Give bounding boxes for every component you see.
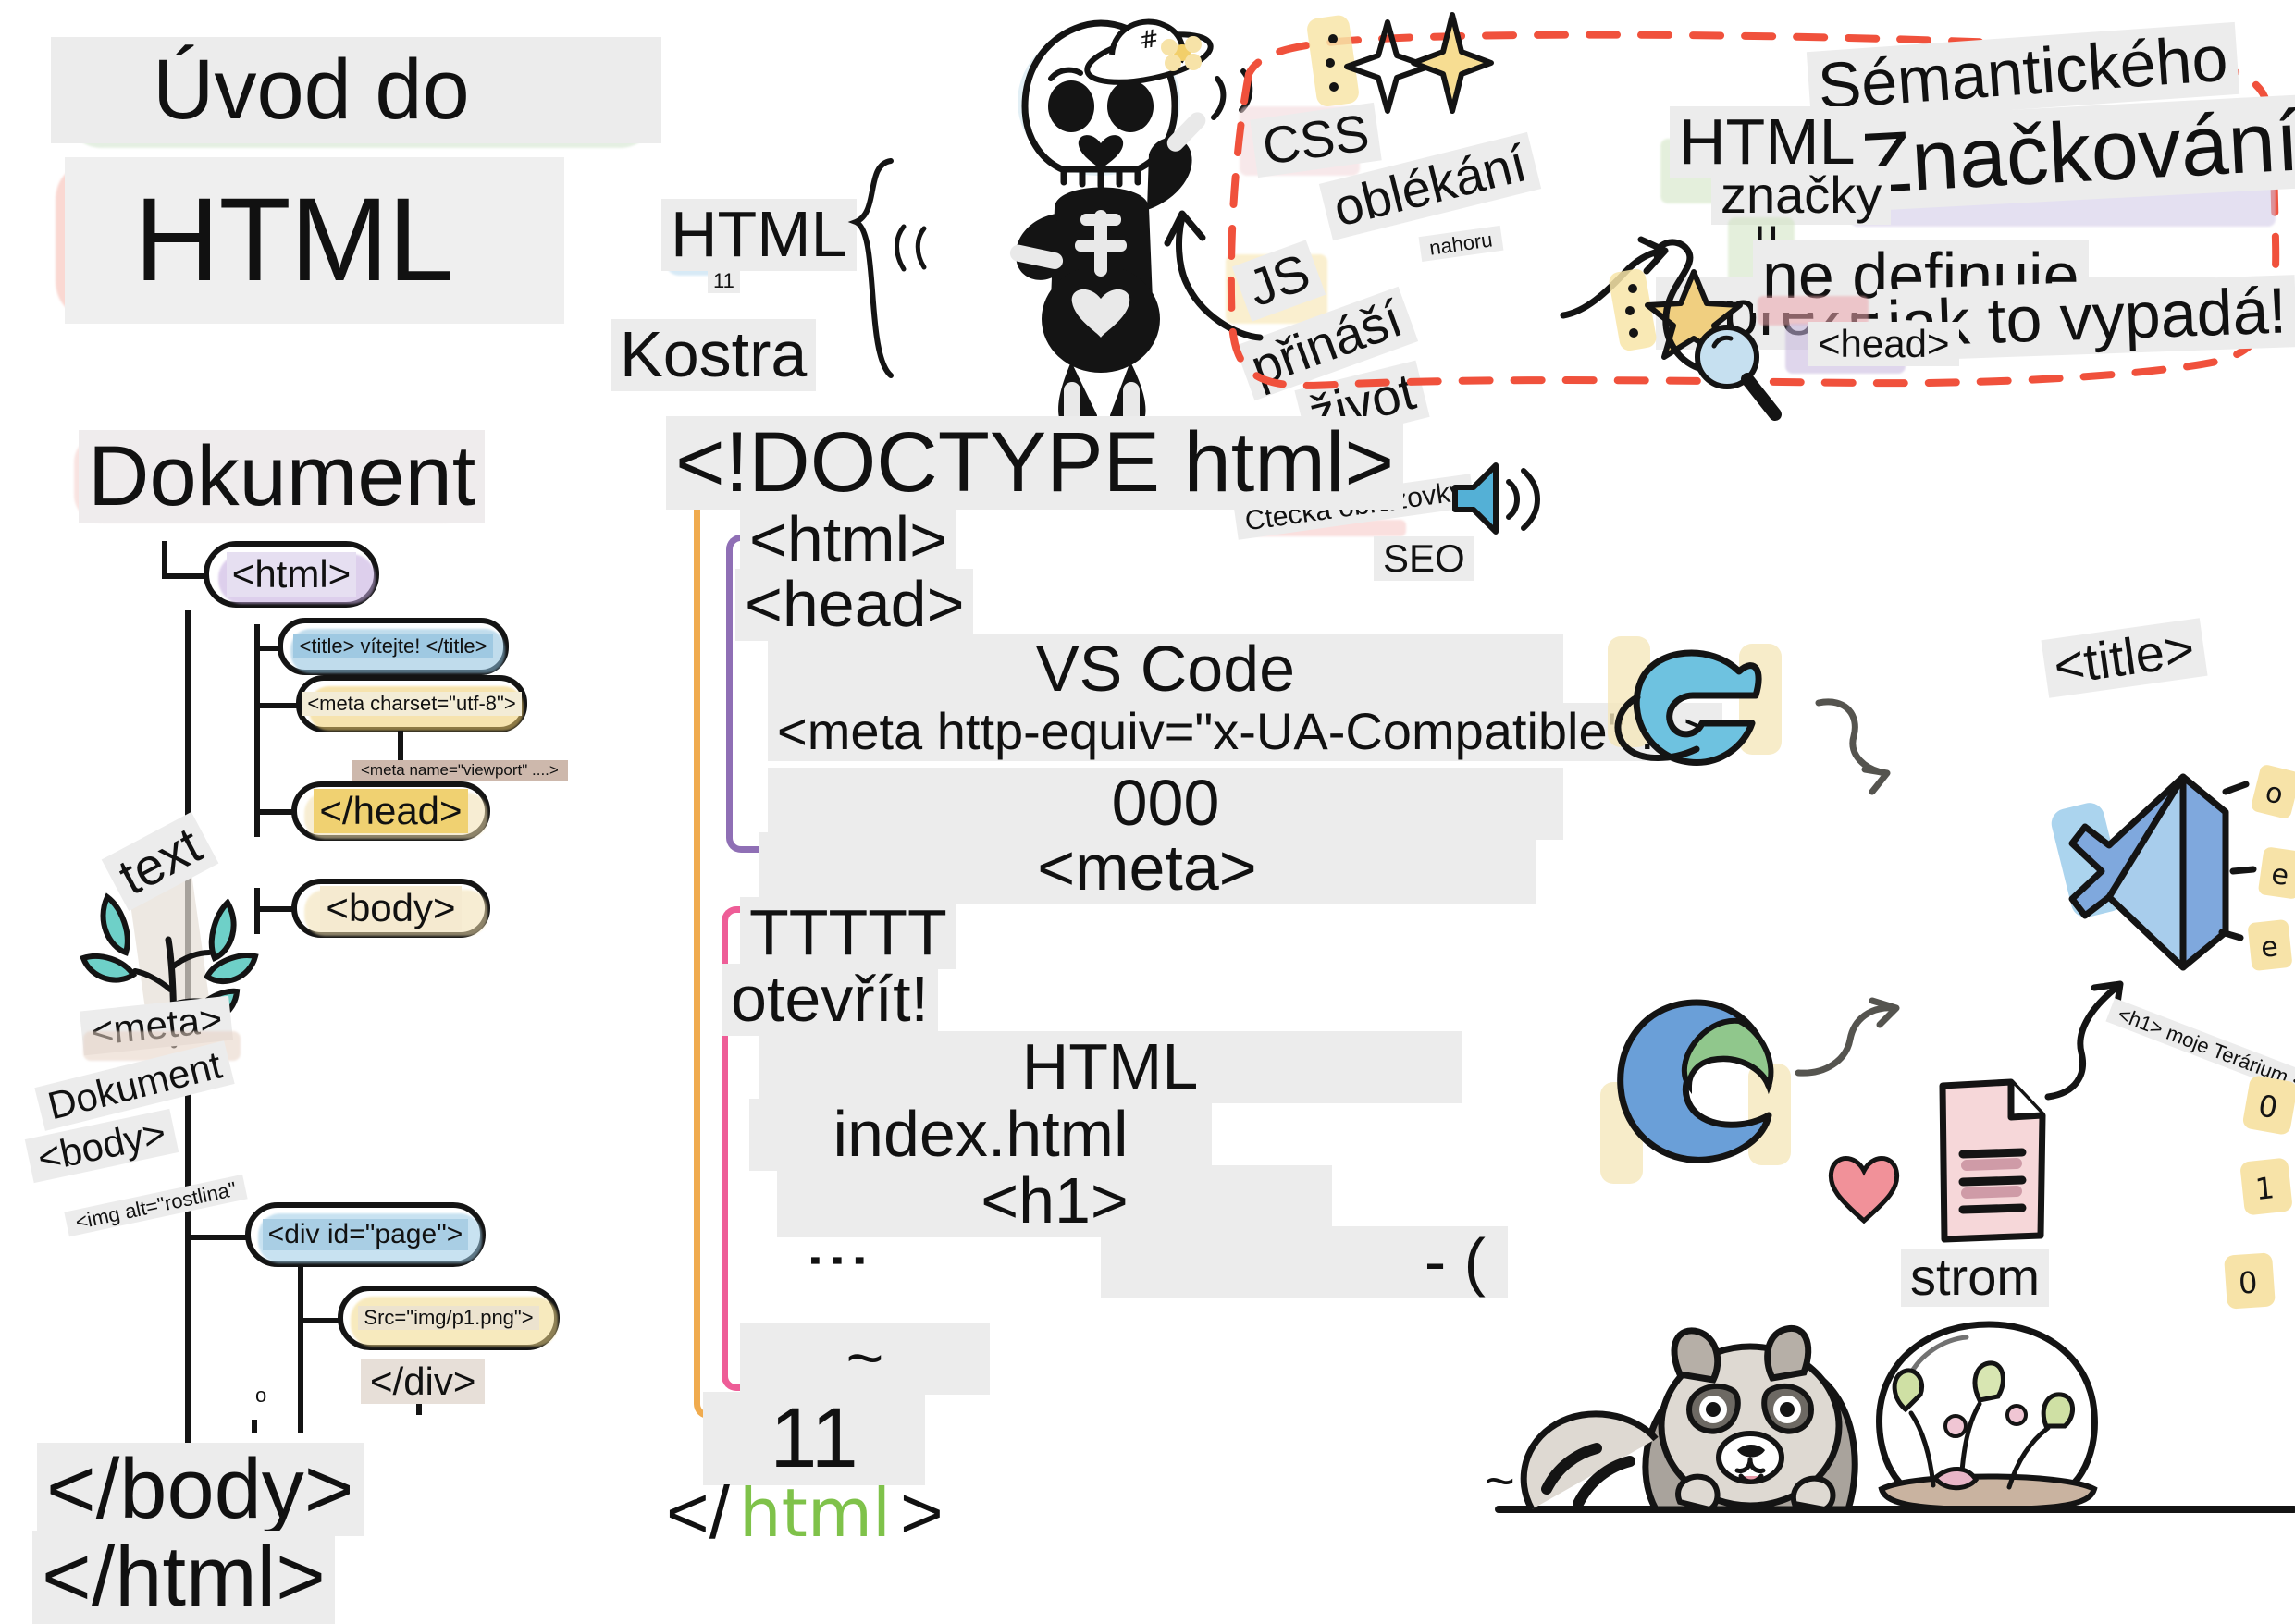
semantic-region: Sémantického Značkování HTML značky || r… [1212,18,2295,601]
code-line-html-open: <html> [740,504,956,576]
code-closing-html-tag: </ html > [666,1470,944,1556]
svg-text:1: 1 [2253,1170,2276,1207]
tree-node-meta-charset-label: <meta charset="utf-8"> [302,692,521,716]
code-line-ttttt: TTTTT [740,897,956,969]
code-line-index-html: index.html [749,1099,1212,1171]
magnifier-icon [1679,314,1799,435]
raccoon-note-tilde: ~ [1475,1452,1524,1510]
code-line-vertical-dots: ⋮ [796,1226,882,1289]
page-title-line2: HTML [65,157,564,324]
tree-node-img-src[interactable]: Src="img/p1.png"> [338,1286,560,1350]
tree-line-root-v [162,541,167,578]
tree-branch-v [254,624,260,837]
note-znacky: značky [1711,166,1891,225]
tree-node-body-label: <body> [320,886,461,930]
code-line-vscode: VS Code [768,634,1563,706]
code-chip-cluster-icon: 0 1 text 0 9 [2211,1073,2295,1461]
document-tree-heading: Dokument [79,430,485,523]
code-line-otevrit: otevřít! [722,964,938,1036]
code-line-head-open: <head> [735,569,973,641]
page-title-line1: Úvod do [51,37,661,143]
note-head-tag: <head> [1808,322,1959,366]
skeleton-html-label: HTML [661,199,857,271]
sparkle-icon [1304,9,1499,129]
microsoft-edge-icon [1600,990,1804,1184]
plant-note-img-label: <img alt="rostlina" [64,1175,247,1236]
page-number: 11 [708,268,740,293]
internet-explorer-icon [1600,620,1813,805]
tree-node-html[interactable]: <html> [204,541,379,608]
tree-o-marker: o [246,1383,276,1408]
tree-branch-div-v [298,1258,303,1433]
svg-text:0: 0 [2238,1264,2259,1300]
closing-tag-name: html [739,1474,891,1552]
raccoon-code-chips: 0 1 text 0 9 [2211,1073,2295,1461]
tree-node-div-page-label: <div id="page"> [263,1219,469,1250]
tree-node-div-close-label: </div> [361,1359,485,1404]
tree-tail-dot-1 [252,1420,257,1433]
tree-node-div-page[interactable]: <div id="page"> [245,1202,486,1267]
tree-closing-html: </html> [32,1531,335,1624]
code-line-doctype: <!DOCTYPE html> [666,416,1403,510]
closing-tag-left: </ [666,1470,730,1556]
tree-node-img-src-label: Src="img/p1.png"> [358,1306,538,1330]
closing-tag-right: > [900,1470,944,1556]
svg-text:e: e [2259,930,2279,965]
skeleton-kostra-label: Kostra [611,319,816,391]
code-line-meta: <meta> [759,832,1536,904]
tree-node-meta-charset[interactable]: <meta charset="utf-8"> [296,675,527,732]
code-line-dash-paren: - ( [1101,1226,1508,1298]
code-line-000: 000 [768,768,1563,840]
tree-line-div [185,1235,250,1240]
tree-closing-body: </body> [37,1443,364,1536]
tree-node-title-label: <title> vítejte! </title> [293,634,492,658]
tree-node-html-label: <html> [227,552,356,597]
tree-line-meta [254,703,301,708]
tree-node-meta-viewport-label: <meta name="viewport" ....> [352,760,568,781]
tree-node-title[interactable]: <title> vítejte! </title> [278,618,509,675]
raccoon-terrarium-icon [1499,1184,2294,1572]
code-line-meta-compat: <meta http-equiv="x-UA-Compatible" ...> [768,703,1722,761]
arrow-edge-to-vscode-icon [1795,971,1924,1091]
tree-node-head-close[interactable]: </head> [291,781,490,841]
tree-line-viewport-v [398,731,403,760]
tree-spine-lower [185,1054,191,1507]
note-title-tag: <title> [2041,618,2207,697]
arrow-ie-to-vscode-icon [1813,694,1933,814]
code-line-tilde: ~ [740,1323,990,1395]
tree-node-body[interactable]: <body> [291,879,490,938]
code-line-html-word: HTML [759,1031,1462,1103]
tree-node-head-close-label: </head> [314,789,467,833]
